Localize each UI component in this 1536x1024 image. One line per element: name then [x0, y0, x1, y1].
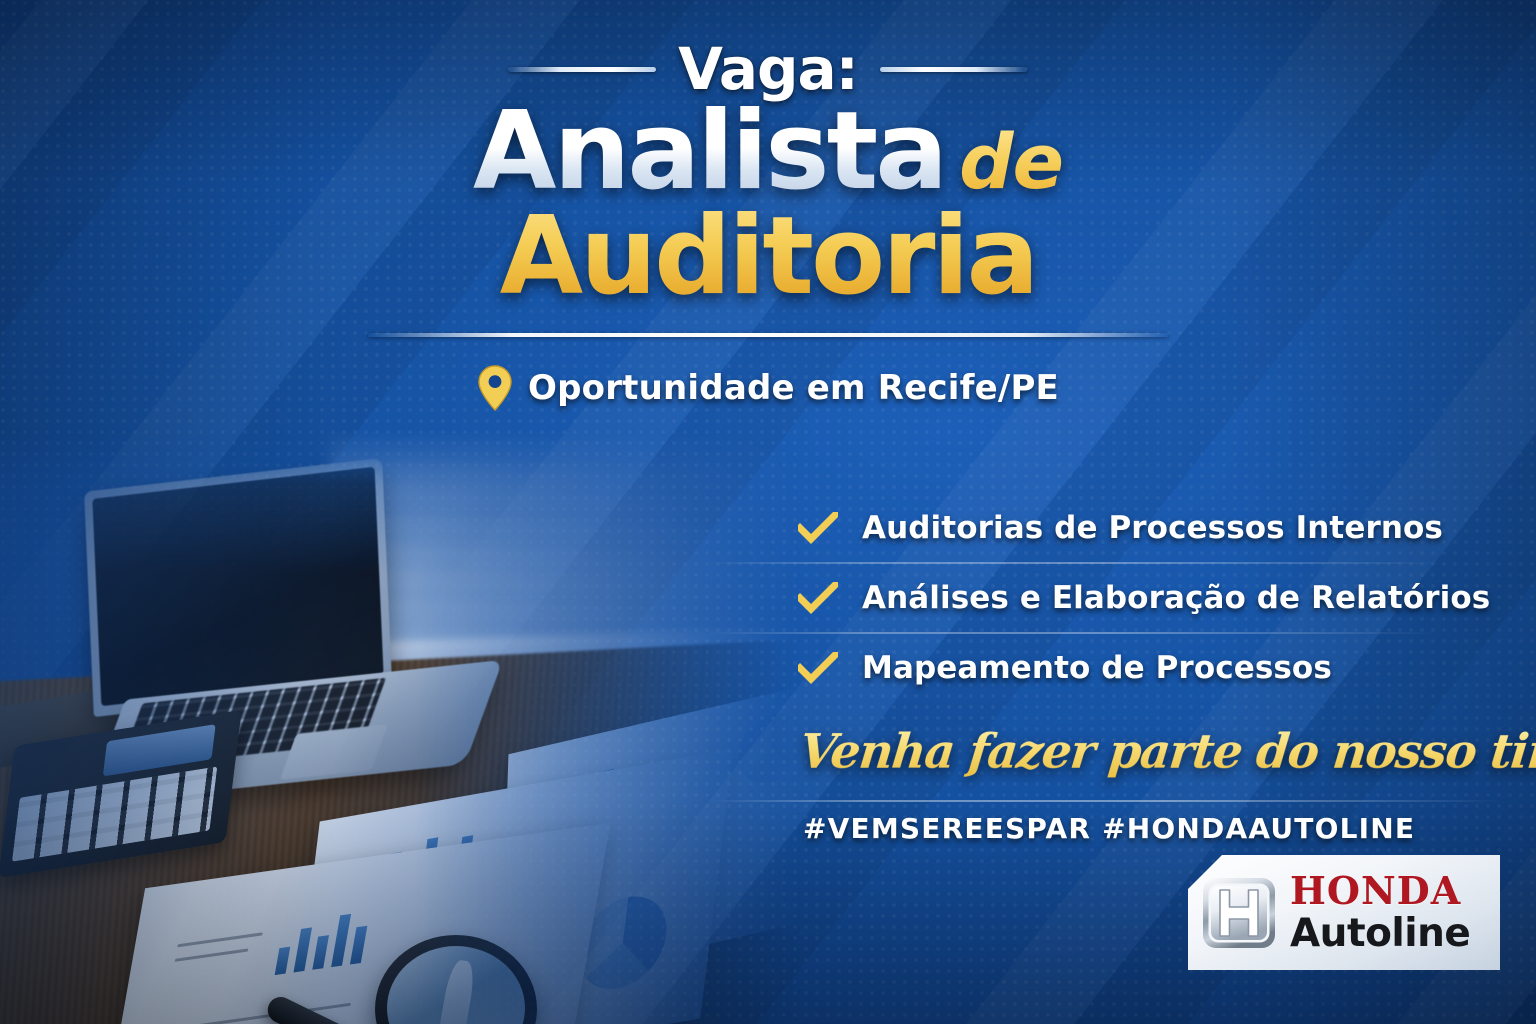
logo-brand: HONDA	[1290, 872, 1470, 910]
list-item-label: Análises e Elaboração de Relatórios	[862, 580, 1490, 616]
list-item: Mapeamento de Processos	[798, 634, 1438, 702]
list-item-label: Mapeamento de Processos	[862, 650, 1332, 686]
check-icon	[798, 512, 838, 544]
banner-content: Vaga: Analistade Auditoria Oportunidade …	[0, 0, 1536, 1024]
check-icon	[798, 582, 838, 614]
hashtags-label: #VEMSEREESPAR #HONDAAUTOLINE	[803, 812, 1415, 845]
cta-headline: Venha fazer parte do nosso time!	[797, 725, 1536, 780]
cta-divider	[712, 800, 1502, 802]
map-pin-icon	[478, 365, 512, 411]
title-analista: Analista	[473, 98, 945, 206]
responsibilities-list: Auditorias de Processos Internos Análise…	[798, 494, 1438, 702]
list-item-label: Auditorias de Processos Internos	[862, 510, 1443, 546]
title-auditoria: Auditoria	[0, 200, 1536, 313]
location-label: Oportunidade em Recife/PE	[528, 368, 1059, 408]
logo-sub-brand: Autoline	[1290, 914, 1470, 953]
title-de: de	[959, 124, 1063, 200]
location-row: Oportunidade em Recife/PE	[478, 365, 1059, 411]
check-icon	[798, 652, 838, 684]
eyebrow-rule-right	[880, 67, 1028, 72]
title-divider	[368, 333, 1168, 337]
page-title: Analistade Auditoria	[0, 98, 1536, 313]
list-item: Análises e Elaboração de Relatórios	[798, 564, 1438, 632]
logo-wordmarks: HONDA Autoline	[1290, 872, 1470, 953]
eyebrow-rule-left	[508, 67, 656, 72]
honda-h-emblem-icon	[1200, 876, 1278, 950]
list-item: Auditorias de Processos Internos	[798, 494, 1438, 562]
honda-autoline-logo: HONDA Autoline	[1188, 855, 1500, 970]
job-ad-banner: Vaga: Analistade Auditoria Oportunidade …	[0, 0, 1536, 1024]
